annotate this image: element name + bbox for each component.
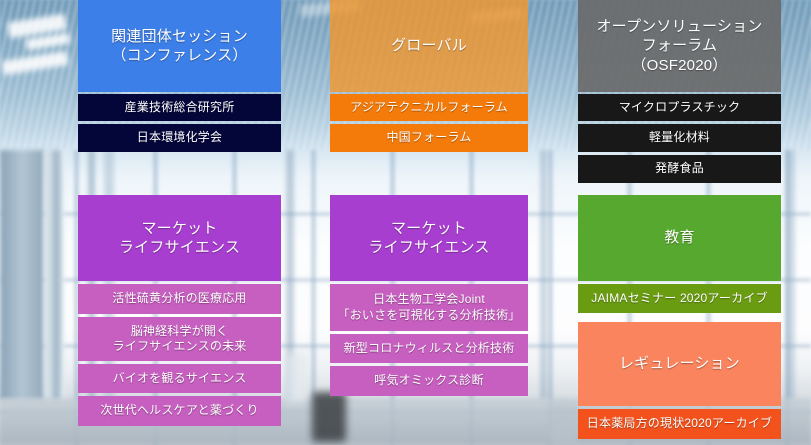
tile-item-aist[interactable]: 産業技術総合研究所 xyxy=(78,94,281,121)
tile-item-breath-omics[interactable]: 呼気オミックス診断 xyxy=(330,366,528,396)
tile-header-related-society-session[interactable]: 関連団体セッション （コンファレンス） xyxy=(78,0,281,92)
session-tile-grid: 関連団体セッション （コンファレンス） 産業技術総合研究所 日本環境化学会 マー… xyxy=(0,0,811,445)
tile-item-covid-analysis[interactable]: 新型コロナウィルスと分析技術 xyxy=(330,334,528,363)
tile-item-next-gen-healthcare[interactable]: 次世代ヘルスケアと薬づくり xyxy=(78,396,281,426)
tile-item-jec[interactable]: 日本環境化学会 xyxy=(78,124,281,152)
tile-item-asia-technical-forum[interactable]: アジアテクニカルフォーラム xyxy=(330,94,528,121)
tile-item-neuroscience-future[interactable]: 脳神経科学が開く ライフサイエンスの未来 xyxy=(78,317,281,361)
tile-header-education[interactable]: 教育 xyxy=(578,195,781,281)
tile-item-active-sulfur[interactable]: 活性硫黄分析の医療応用 xyxy=(78,284,281,314)
tile-header-global[interactable]: グローバル xyxy=(330,0,528,92)
tile-item-lightweight-materials[interactable]: 軽量化材料 xyxy=(578,124,781,152)
tile-header-regulation[interactable]: レギュレーション xyxy=(578,322,781,406)
tile-item-china-forum[interactable]: 中国フォーラム xyxy=(330,124,528,152)
column-3: オープンソリューション フォーラム （OSF2020） マイクロプラスチック 軽… xyxy=(578,0,781,439)
tile-item-jaima-seminar-archive[interactable]: JAIMAセミナー 2020アーカイブ xyxy=(578,284,781,313)
tile-item-sbj-joint[interactable]: 日本生物工学会Joint 「おいさを可視化する分析技術」 xyxy=(330,284,528,331)
tile-item-fermented-foods[interactable]: 発酵食品 xyxy=(578,155,781,183)
tile-item-bio-science[interactable]: バイオを観るサイエンス xyxy=(78,364,281,393)
tile-item-jp-pharmacopoeia-archive[interactable]: 日本薬局方の現状2020アーカイブ xyxy=(578,409,781,439)
tile-header-open-solution-forum[interactable]: オープンソリューション フォーラム （OSF2020） xyxy=(578,0,781,92)
slide-canvas: 関連団体セッション （コンファレンス） 産業技術総合研究所 日本環境化学会 マー… xyxy=(0,0,811,445)
column-1: 関連団体セッション （コンファレンス） 産業技術総合研究所 日本環境化学会 マー… xyxy=(78,0,281,426)
tile-header-market-life-science-b[interactable]: マーケット ライフサイエンス xyxy=(330,195,528,281)
tile-header-market-life-science-a[interactable]: マーケット ライフサイエンス xyxy=(78,195,281,281)
tile-item-microplastics[interactable]: マイクロプラスチック xyxy=(578,94,781,121)
column-2: グローバル アジアテクニカルフォーラム 中国フォーラム マーケット ライフサイエ… xyxy=(330,0,528,396)
